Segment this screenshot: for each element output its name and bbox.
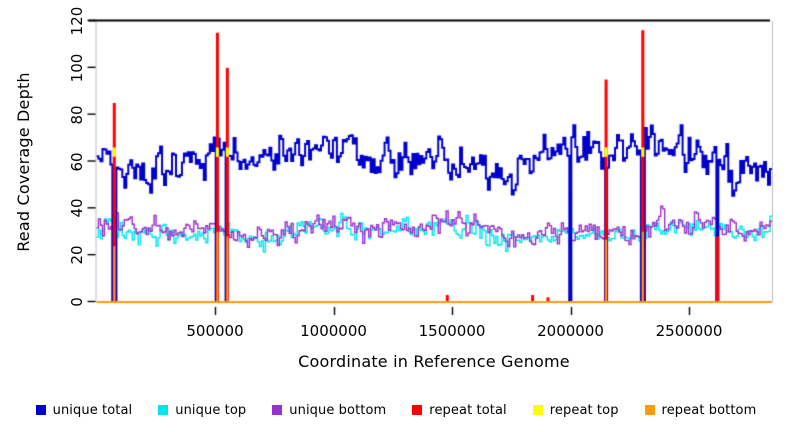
legend-swatch-icon bbox=[533, 405, 543, 415]
legend-label: unique total bbox=[53, 403, 133, 418]
legend-label: repeat top bbox=[550, 403, 619, 418]
y-tick-label: 0 bbox=[68, 287, 86, 317]
legend-item: unique total bbox=[36, 403, 133, 418]
x-tick-label: 1000000 bbox=[300, 322, 367, 340]
y-axis-title: Read Coverage Depth bbox=[10, 2, 38, 322]
legend-label: repeat bottom bbox=[662, 403, 757, 418]
legend-item: repeat top bbox=[533, 403, 619, 418]
y-tick-label: 60 bbox=[68, 147, 86, 177]
legend-swatch-icon bbox=[36, 405, 46, 415]
y-tick-label: 20 bbox=[68, 240, 86, 270]
chart-legend: unique totalunique topunique bottomrepea… bbox=[0, 398, 792, 422]
legend-item: unique bottom bbox=[272, 403, 386, 418]
legend-swatch-icon bbox=[158, 405, 168, 415]
legend-swatch-icon bbox=[412, 405, 422, 415]
x-axis-title: Coordinate in Reference Genome bbox=[96, 352, 772, 371]
x-tick-label: 500000 bbox=[186, 322, 243, 340]
legend-item: repeat total bbox=[412, 403, 506, 418]
x-tick-label: 1500000 bbox=[419, 322, 486, 340]
legend-label: repeat total bbox=[429, 403, 506, 418]
legend-label: unique top bbox=[175, 403, 246, 418]
legend-label: unique bottom bbox=[289, 403, 386, 418]
y-tick-label: 40 bbox=[68, 193, 86, 223]
legend-swatch-icon bbox=[645, 405, 655, 415]
legend-item: repeat bottom bbox=[645, 403, 757, 418]
y-tick-label: 100 bbox=[68, 53, 86, 83]
coverage-depth-figure: Read Coverage Depth Coordinate in Refere… bbox=[0, 0, 792, 432]
x-tick-label: 2000000 bbox=[537, 322, 604, 340]
y-tick-label: 80 bbox=[68, 100, 86, 130]
legend-item: unique top bbox=[158, 403, 246, 418]
legend-swatch-icon bbox=[272, 405, 282, 415]
y-tick-label: 120 bbox=[68, 6, 86, 36]
x-tick-label: 2500000 bbox=[656, 322, 723, 340]
